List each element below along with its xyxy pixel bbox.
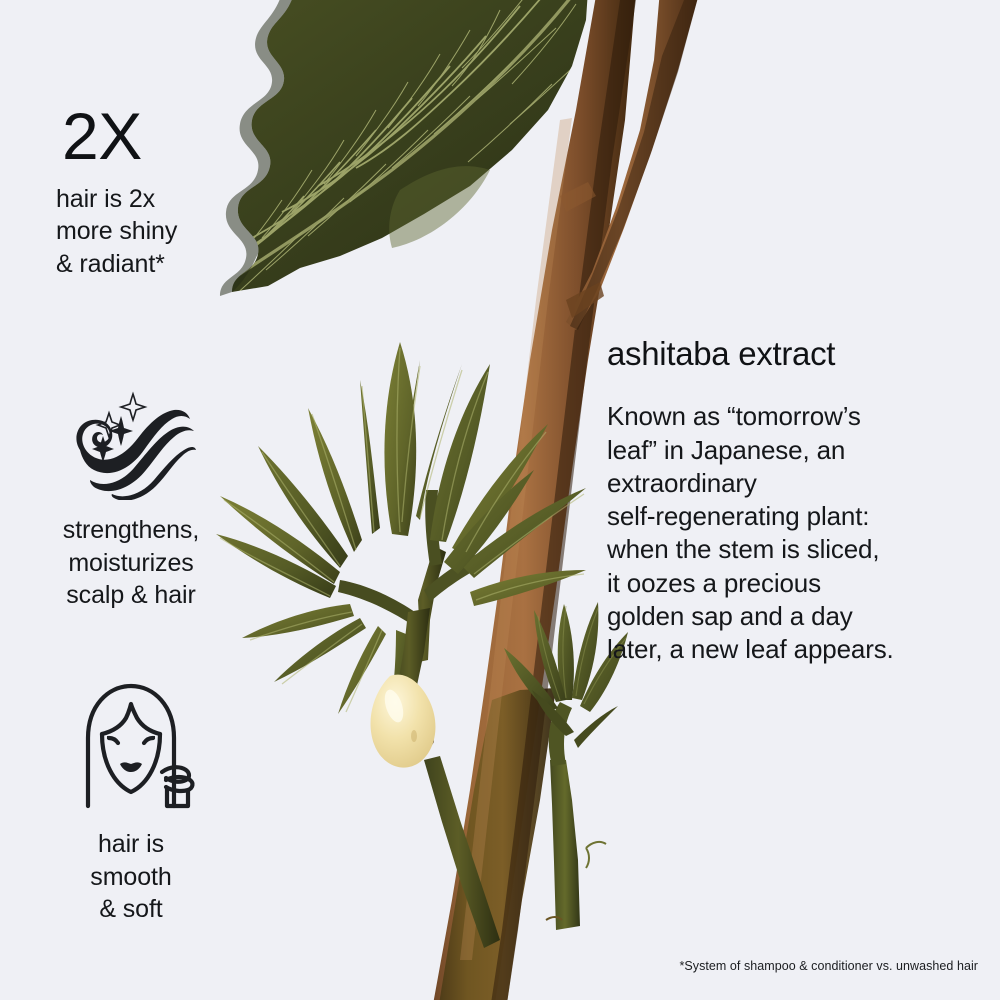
main-stem — [432, 0, 636, 1000]
benefit-smoothness: hair is smooth & soft — [0, 676, 262, 926]
benefit-smoothness-label: hair is smooth & soft — [0, 828, 262, 926]
benefit-shine-label: hair is 2x more shiny & radiant* — [56, 183, 262, 281]
benefit-strength: strengthens, moisturizes scalp & hair — [0, 372, 262, 612]
woman-touching-hair-icon — [0, 676, 262, 814]
hair-waves-sparkle-icon — [0, 372, 262, 500]
ingredient-description: Known as “tomorrow’s leaf” in Japanese, … — [607, 400, 987, 666]
stat-2x: 2X — [62, 104, 262, 169]
product-benefits-infographic: 2X hair is 2x more shiny & radiant* — [0, 0, 1000, 1000]
ingredient-title: ashitaba extract — [607, 336, 987, 372]
sliced-stem-with-sap — [371, 608, 500, 948]
benefit-strength-label: strengthens, moisturizes scalp & hair — [0, 514, 262, 612]
footnote-disclaimer: *System of shampoo & conditioner vs. unw… — [680, 959, 979, 974]
secondary-stem — [566, 0, 700, 330]
golden-sap-droplet — [371, 675, 436, 768]
benefit-shine: 2X hair is 2x more shiny & radiant* — [0, 104, 262, 280]
leaf-cluster — [216, 342, 586, 722]
ingredient-info: ashitaba extract Known as “tomorrow’s le… — [607, 336, 987, 666]
